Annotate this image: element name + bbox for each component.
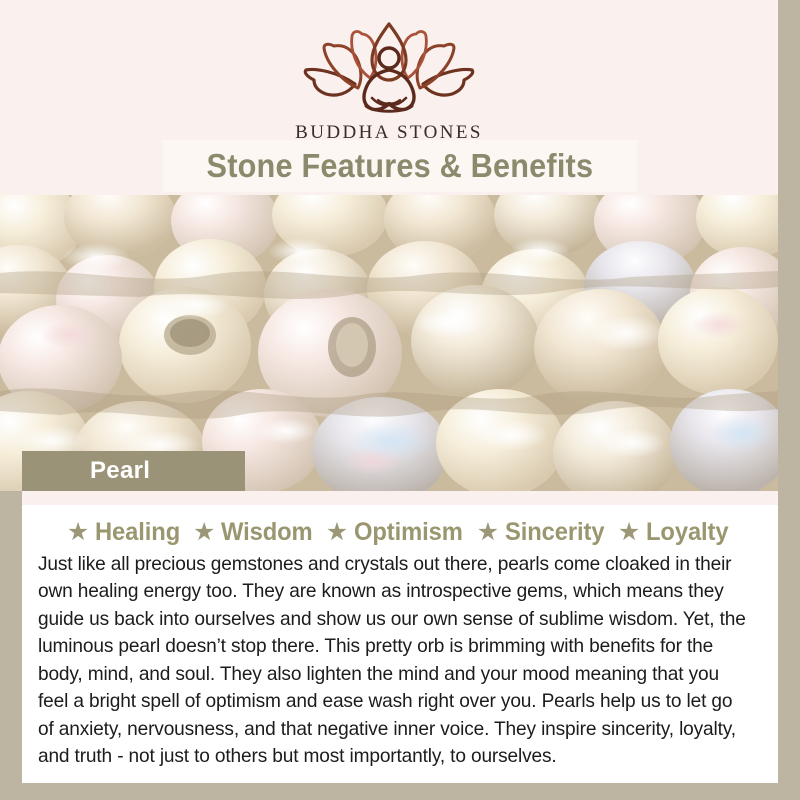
- benefit-item: ★ Wisdom: [193, 518, 318, 547]
- benefit-label: Loyalty: [646, 518, 728, 547]
- star-icon: ★: [326, 520, 348, 545]
- benefit-label: Healing: [95, 518, 180, 547]
- infographic-page: BUDDHA STONES Stone Features & Benefits: [0, 0, 800, 800]
- star-icon: ★: [193, 520, 215, 545]
- frame-bottom-border: [0, 783, 800, 800]
- benefit-item: ★ Sincerity: [477, 518, 610, 547]
- pearls-photo-graphic: [0, 195, 778, 491]
- star-icon: ★: [67, 520, 89, 545]
- benefit-label: Optimism: [354, 518, 463, 547]
- benefit-item: ★ Loyalty: [618, 518, 733, 547]
- benefit-item: ★ Optimism: [326, 518, 469, 547]
- lotus-meditation-icon: [300, 18, 478, 118]
- page-title-panel: Stone Features & Benefits: [163, 140, 637, 192]
- brand-logo: BUDDHA STONES: [0, 18, 778, 144]
- header-section: BUDDHA STONES Stone Features & Benefits: [0, 0, 778, 195]
- benefits-list: ★ Healing ★ Wisdom ★ Optimism ★ Sincerit…: [36, 515, 764, 549]
- frame-right-border: [778, 0, 800, 800]
- benefit-label: Sincerity: [505, 518, 604, 547]
- page-title: Stone Features & Benefits: [207, 147, 594, 185]
- photo-caption-badge: Pearl: [22, 451, 245, 491]
- description-paragraph: Just like all precious gemstones and cry…: [36, 551, 753, 771]
- content-panel: ★ Healing ★ Wisdom ★ Optimism ★ Sincerit…: [22, 505, 778, 783]
- photo-caption-label: Pearl: [22, 457, 150, 485]
- star-icon: ★: [477, 520, 499, 545]
- pearls-photo: [0, 195, 778, 491]
- benefit-label: Wisdom: [221, 518, 313, 547]
- star-icon: ★: [618, 520, 640, 545]
- benefit-item: ★ Healing: [67, 518, 185, 547]
